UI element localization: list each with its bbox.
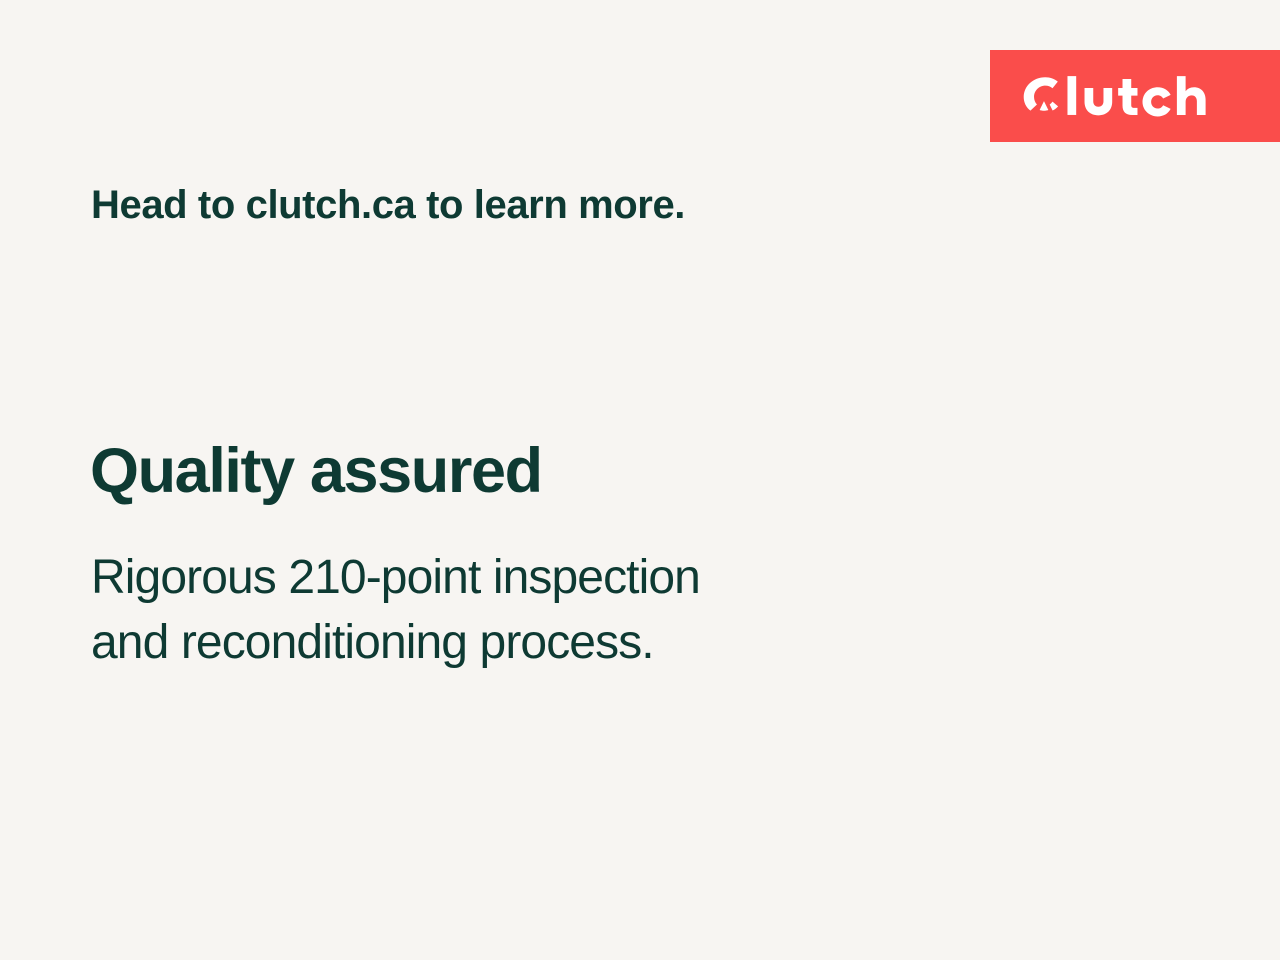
body-copy: Rigorous 210-point inspection and recond…	[91, 545, 700, 676]
tagline-text: Head to clutch.ca to learn more.	[91, 182, 685, 228]
slide-canvas: Head to clutch.ca to learn more. Quality…	[0, 0, 1280, 960]
body-copy-line-1: Rigorous 210-point inspection	[91, 545, 700, 610]
page-title: Quality assured	[90, 437, 542, 506]
body-copy-line-2: and reconditioning process.	[91, 610, 700, 675]
brand-banner[interactable]	[990, 50, 1280, 142]
clutch-wordmark-icon	[1022, 67, 1238, 125]
clutch-logo[interactable]	[1022, 67, 1238, 125]
